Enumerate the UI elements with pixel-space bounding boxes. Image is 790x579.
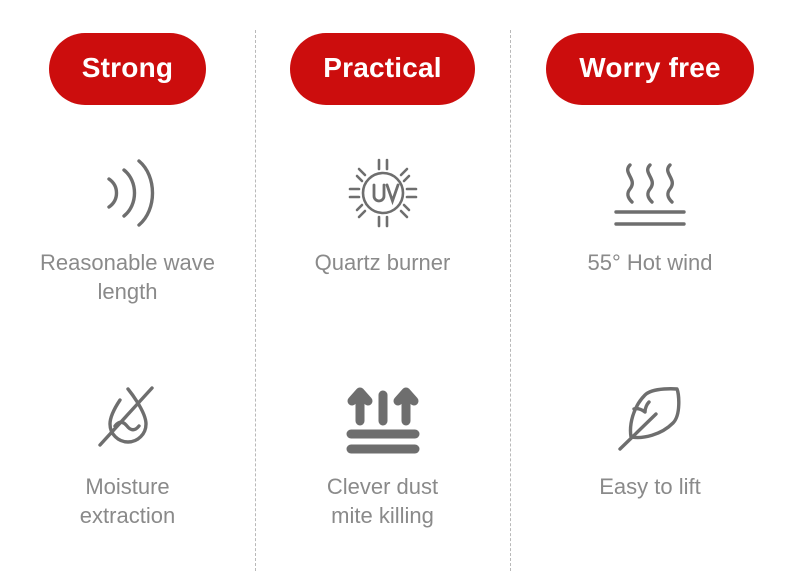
feature-grid: Strong Reasonable wave length [0,0,790,579]
feature-caption: Easy to lift [599,472,700,501]
feature-columns: Strong Reasonable wave length [0,0,790,579]
feature-clever-dust-mite-killing: Clever dust mite killing [255,356,510,579]
feature-caption: Reasonable wave length [40,248,215,307]
badge-practical[interactable]: Practical [290,33,475,105]
feature-caption: 55° Hot wind [588,248,713,277]
feature-easy-to-lift: Easy to lift [510,356,790,579]
feature-column-practical: Practical [255,0,510,579]
feature-quartz-burner: Quartz burner [255,130,510,356]
hot-wind-heat-icon [604,150,696,236]
feature-caption: Clever dust mite killing [327,472,438,531]
feature-column-worry-free: Worry free 55° Hot wind [510,0,790,579]
uv-sun-icon [337,150,429,236]
wave-signal-icon [82,150,174,236]
feature-caption: Quartz burner [315,248,451,277]
feature-caption: Moisture extraction [80,472,175,531]
badge-row-strong: Strong [0,0,255,130]
feature-moisture-extraction: Moisture extraction [0,356,255,579]
badge-row-practical: Practical [255,0,510,130]
no-moisture-droplet-icon [82,374,174,460]
dust-mite-arrows-icon [337,374,429,460]
badge-row-worry-free: Worry free [510,0,790,130]
feature-column-strong: Strong Reasonable wave length [0,0,255,579]
badge-worry-free[interactable]: Worry free [546,33,754,105]
feature-reasonable-wave-length: Reasonable wave length [0,130,255,356]
feather-icon [604,374,696,460]
badge-strong[interactable]: Strong [49,33,206,105]
feature-hot-wind: 55° Hot wind [510,130,790,356]
